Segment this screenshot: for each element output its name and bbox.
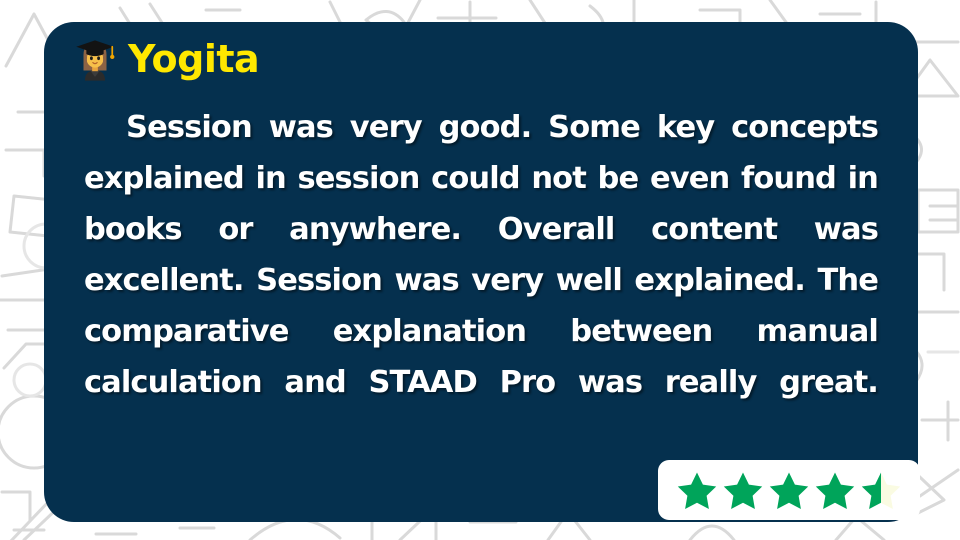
testimonial-card: Yogita Session was very good. Some key c… [44,22,918,522]
rating-badge [658,460,920,520]
reviewer-name: Yogita [128,40,259,78]
card-header: Yogita [72,36,259,82]
star-rating-icon [677,469,901,511]
review-text: Session was very good. Some key concepts… [84,102,878,459]
student-graduate-avatar-icon [72,36,118,82]
